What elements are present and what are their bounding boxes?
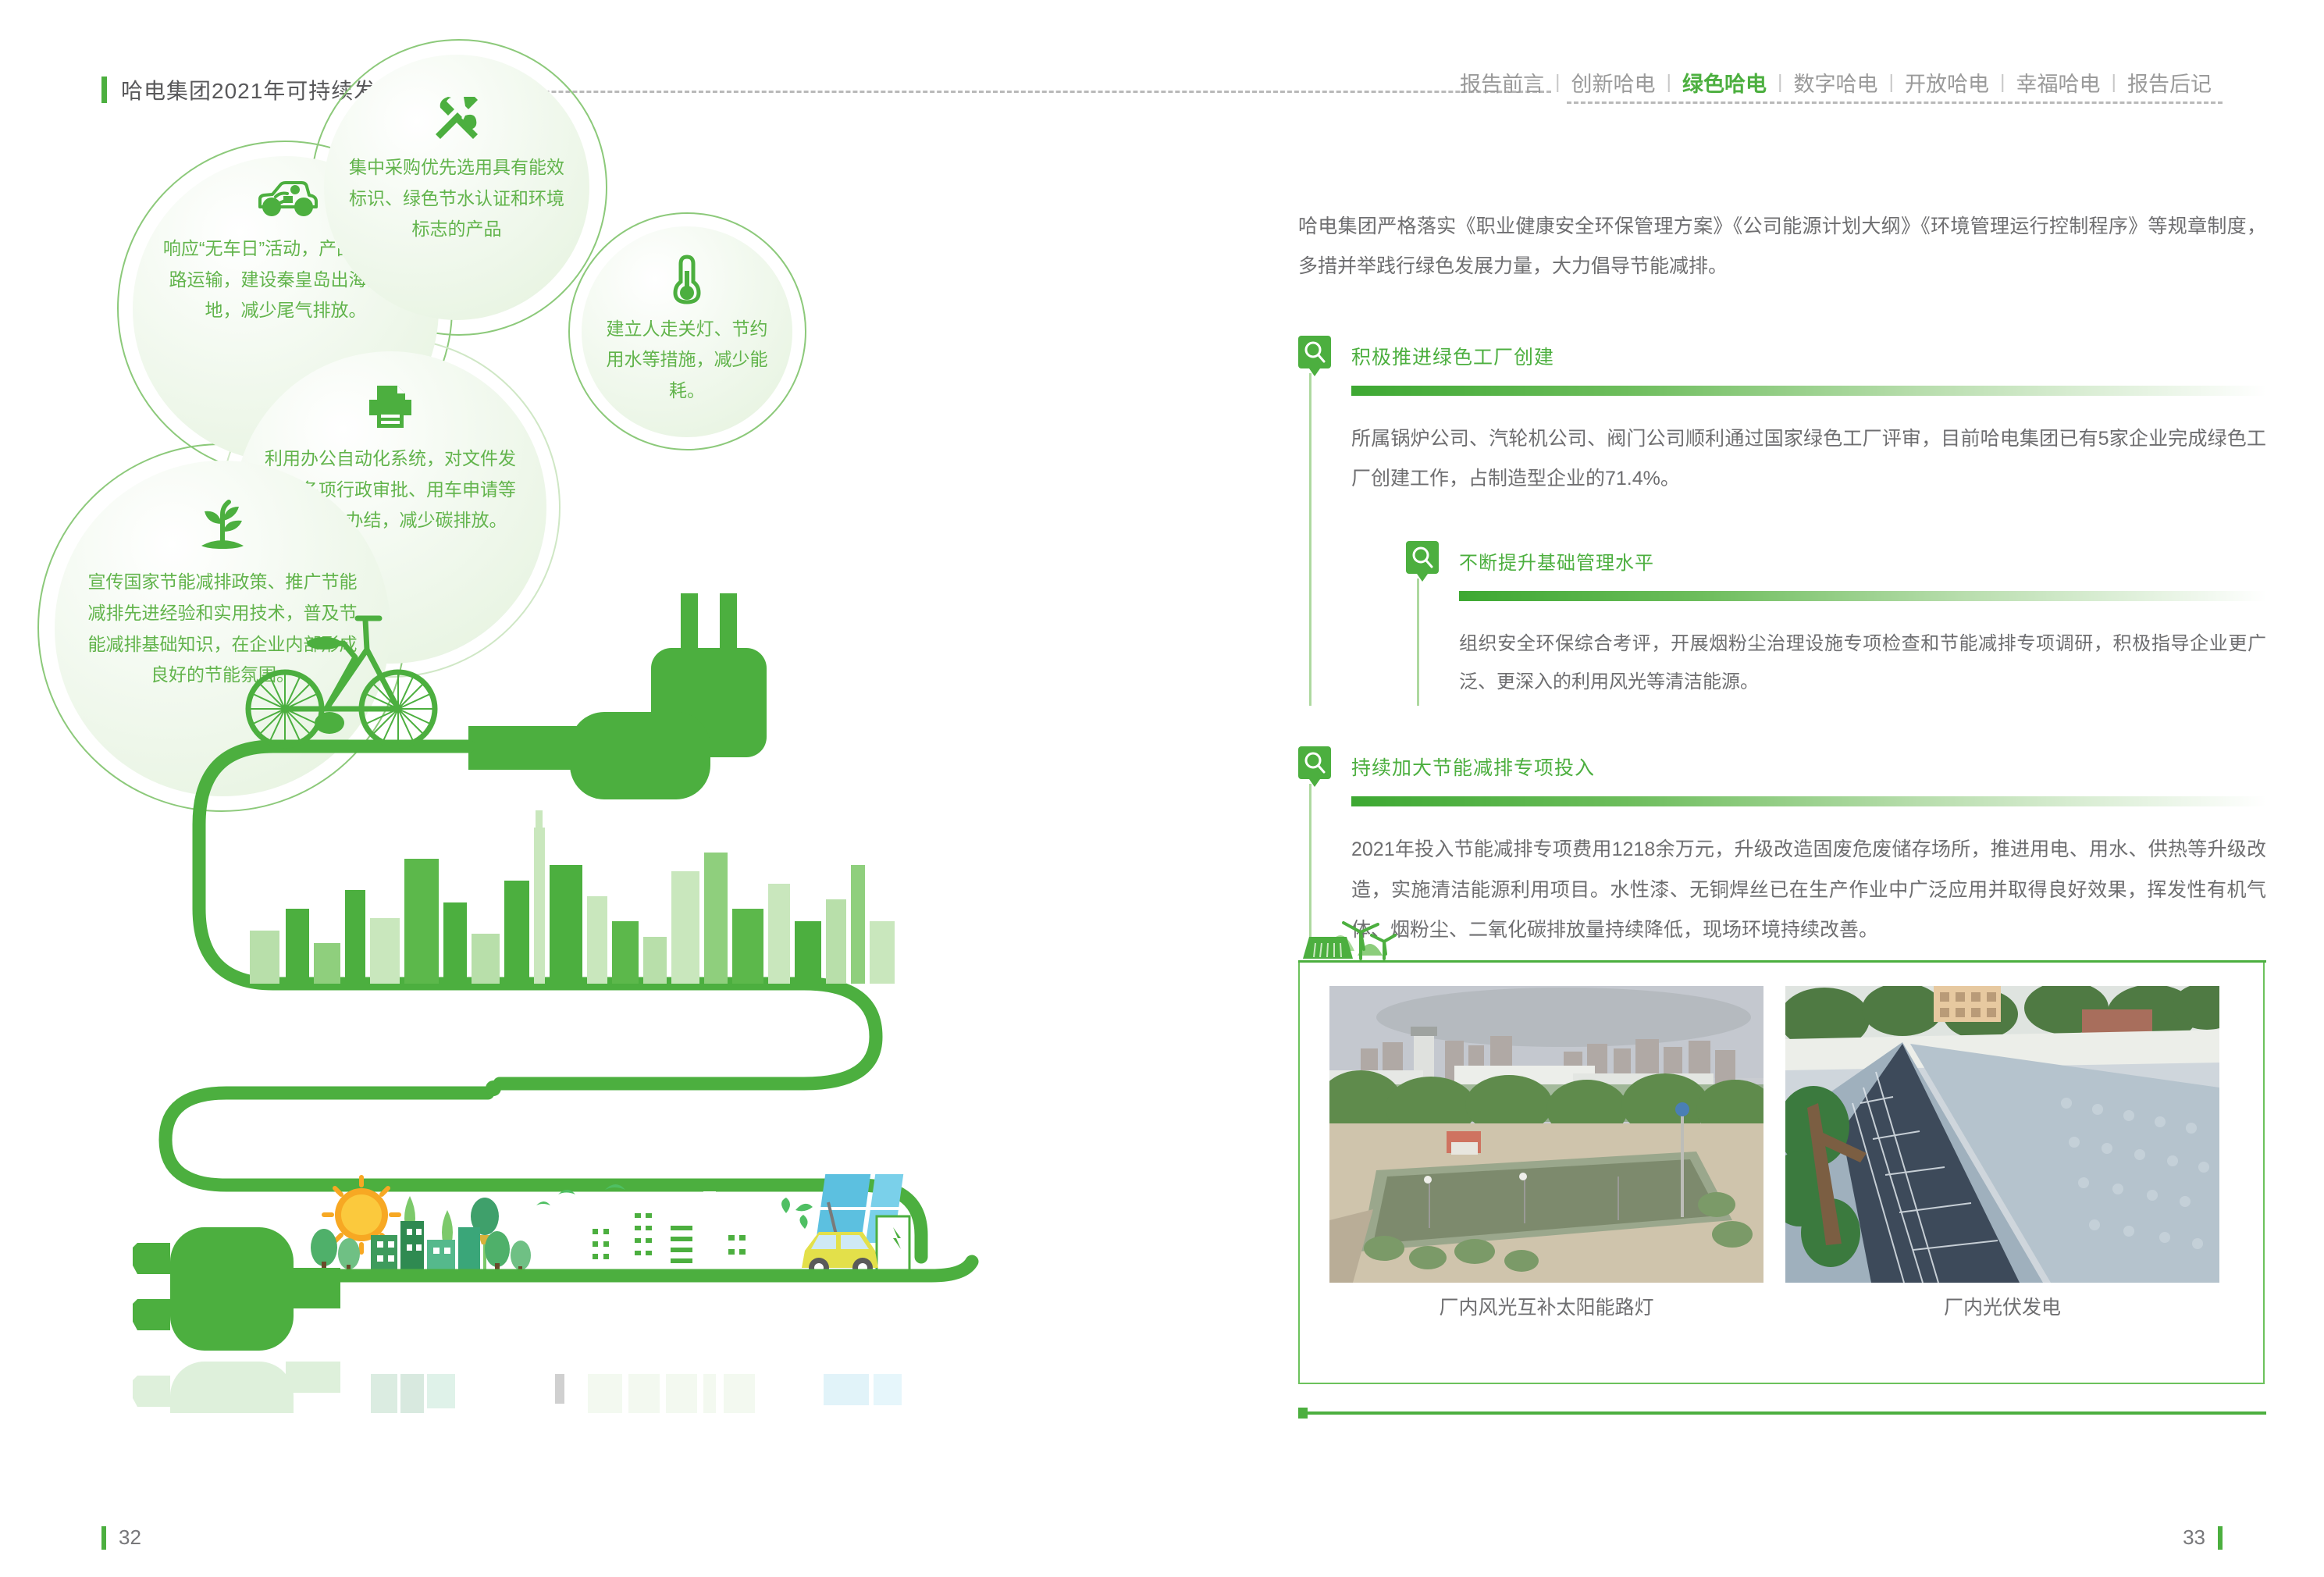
- green-office-infographic: 响应“无车日”活动，产品尽量铁路运输，建设秦皇岛出海口基地，减少尾气排放。 集中…: [0, 156, 1218, 1483]
- nav-item-3[interactable]: 数字哈电: [1783, 67, 1889, 98]
- subsection-title: 不断提升基础管理水平: [1459, 547, 1654, 575]
- nav-item-5[interactable]: 幸福哈电: [2005, 67, 2112, 98]
- bicycle-icon: [248, 618, 435, 746]
- report-spread: 哈电集团2021年可持续发展报告 报告前言 | 创新哈电 | 绿色哈电 | 数字…: [0, 0, 2324, 1577]
- magnifier-icon: [1298, 336, 1334, 376]
- plug-body-bottom: [133, 1227, 340, 1351]
- subsection-rail: [1417, 578, 1419, 706]
- section-nav[interactable]: 报告前言 | 创新哈电 | 绿色哈电 | 数字哈电 | 开放哈电 | 幸福哈电 …: [1449, 67, 2223, 98]
- subsection-body: 组织安全环保综合考评，开展烟粉尘治理设施专项检查和节能减排专项调研，积极指导企业…: [1459, 625, 2266, 701]
- page-accent-bar: [2218, 1526, 2223, 1550]
- photo-panel-bottom-nub: [1298, 1408, 1308, 1419]
- infographic-bubble-tools: 集中采购优先选用具有能效标识、绿色节水认证和环境标志的产品: [324, 55, 589, 320]
- section-gradient-bar: [1351, 796, 2266, 806]
- thermometer-icon: [672, 254, 702, 305]
- section-green-factory: 积极推进绿色工厂创建 所属锅炉公司、汽轮机公司、阀门公司顺利通过国家绿色工厂评审…: [1298, 336, 2266, 702]
- reflection: [133, 1362, 902, 1413]
- city-skyline-silhouette: [250, 810, 895, 984]
- nav-item-6[interactable]: 报告后记: [2116, 67, 2223, 98]
- bubble-text: 建立人走关灯、节约用水等措施，减少能耗。: [582, 314, 792, 407]
- nav-item-1[interactable]: 创新哈电: [1561, 67, 1667, 98]
- subsection-gradient-bar: [1459, 591, 2266, 601]
- photo-caption-1: 厂内风光互补太阳能路灯: [1329, 1292, 1763, 1320]
- nav-item-0[interactable]: 报告前言: [1449, 67, 1555, 98]
- nav-item-2-active[interactable]: 绿色哈电: [1671, 67, 1778, 98]
- plug-head-top: [468, 593, 767, 799]
- section-title: 积极推进绿色工厂创建: [1351, 342, 1554, 370]
- magnifier-icon: [1406, 541, 1442, 582]
- page-accent-bar: [101, 1526, 106, 1550]
- section-gradient-bar: [1351, 386, 2266, 396]
- page-number-right: 33: [2183, 1525, 2205, 1550]
- bubble-text: 集中采购优先选用具有能效标识、绿色节水认证和环境标志的产品: [324, 152, 589, 245]
- plant-photovoltaic-power-photo: [1785, 986, 2219, 1283]
- sprout-icon: [194, 497, 251, 554]
- wind-hydro-decoration-icon: [1298, 915, 1501, 963]
- car-icon: [252, 177, 319, 221]
- nav-dashed-rule: [1567, 101, 2223, 104]
- section-rail: [1309, 373, 1311, 707]
- subsection-basic-management: 不断提升基础管理水平 组织安全环保综合考评，开展烟粉尘治理设施专项检查和节能减排…: [1406, 541, 2266, 701]
- photo-panel: 厂内风光互补太阳能路灯 厂内光伏发电: [1298, 960, 2266, 1413]
- page-number-left: 32: [119, 1525, 141, 1550]
- content-column: 哈电集团严格落实《职业健康安全环保管理方案》《公司能源计划大纲》《环境管理运行控…: [1298, 207, 2266, 950]
- page-number-left-group: 32: [101, 1525, 154, 1550]
- printer-icon: [368, 383, 413, 431]
- magnifier-icon: [1298, 746, 1334, 787]
- infographic-bubble-thermometer: 建立人走关灯、节约用水等措施，减少能耗。: [582, 226, 792, 437]
- photo-caption-2: 厂内光伏发电: [1785, 1292, 2219, 1320]
- tools-icon: [431, 92, 482, 142]
- nav-item-4[interactable]: 开放哈电: [1894, 67, 2000, 98]
- intro-paragraph: 哈电集团严格落实《职业健康安全环保管理方案》《公司能源计划大纲》《环境管理运行控…: [1298, 207, 2266, 287]
- page-number-right-group: 33: [2170, 1525, 2223, 1550]
- section-title: 持续加大节能减排专项投入: [1351, 753, 1595, 781]
- section-body: 所属锅炉公司、汽轮机公司、阀门公司顺利通过国家绿色工厂评审，目前哈电集团已有5家…: [1351, 419, 2266, 500]
- photo-panel-bottom-rule: [1298, 1411, 2266, 1415]
- header-dashed-rule: [411, 91, 1551, 93]
- photo-row: [1329, 986, 2219, 1283]
- plant-wind-solar-streetlight-photo: [1329, 986, 1763, 1283]
- header-accent-bar: [101, 77, 107, 103]
- plug-cable-eco-city-illustration: [133, 593, 999, 1413]
